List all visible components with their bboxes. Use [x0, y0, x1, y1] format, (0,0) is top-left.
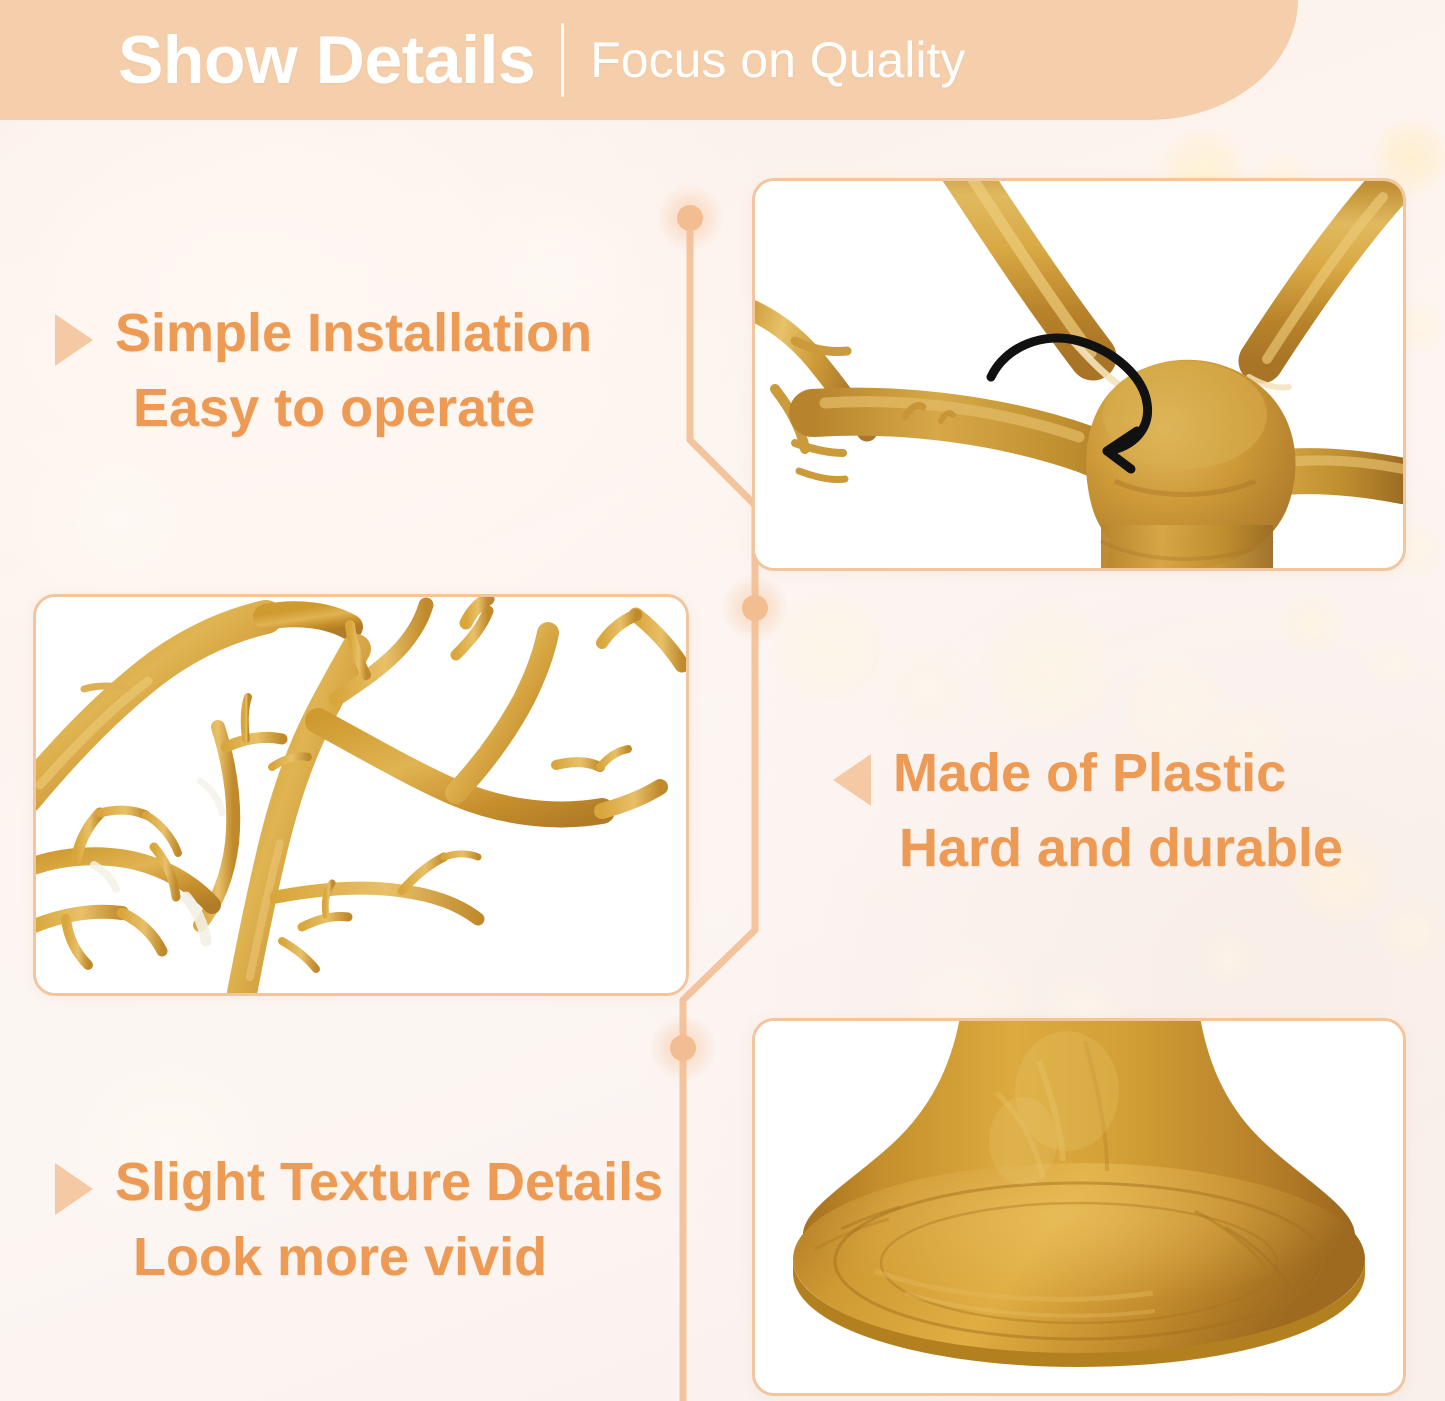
- header-banner: Show Details Focus on Quality: [0, 0, 1298, 120]
- triangle-right-icon: [55, 314, 93, 366]
- joint-closeup-illustration: [755, 181, 1403, 568]
- bokeh-light: [1200, 930, 1258, 988]
- bokeh-light: [770, 590, 890, 710]
- bokeh-light: [980, 600, 1120, 740]
- connector-dot-icon: [670, 1035, 696, 1061]
- feature-slight-texture-details: Slight Texture Details Look more vivid: [55, 1145, 663, 1294]
- base-closeup-illustration: [755, 1021, 1403, 1393]
- feature-line-1: Simple Installation: [115, 296, 592, 371]
- feature-line-1: Made of Plastic: [893, 736, 1343, 811]
- feature-simple-installation: Simple Installation Easy to operate: [55, 296, 592, 445]
- feature-made-of-plastic: Made of Plastic Hard and durable: [833, 736, 1343, 885]
- bokeh-light: [880, 640, 976, 736]
- header-divider: [561, 23, 564, 97]
- feature-line-2: Hard and durable: [893, 811, 1343, 886]
- connector-dot-icon: [742, 595, 768, 621]
- header-banner-content: Show Details Focus on Quality: [118, 0, 965, 120]
- feature-line-2: Look more vivid: [115, 1220, 663, 1295]
- feature-line-2: Easy to operate: [115, 371, 592, 446]
- photo-panel-base-closeup[interactable]: [752, 1018, 1406, 1396]
- photo-panel-joint-closeup[interactable]: [752, 178, 1406, 571]
- bokeh-light: [20, 420, 220, 620]
- feature-text-lines: Made of Plastic Hard and durable: [893, 736, 1343, 885]
- page-title: Show Details: [118, 26, 535, 94]
- bokeh-light: [1278, 590, 1344, 656]
- infographic-canvas: Show Details Focus on Quality: [0, 0, 1445, 1401]
- photo-panel-branches-closeup[interactable]: [33, 594, 689, 996]
- triangle-left-icon: [833, 754, 871, 806]
- bokeh-light: [1368, 640, 1418, 690]
- branches-closeup-illustration: [36, 597, 686, 993]
- feature-text-lines: Slight Texture Details Look more vivid: [115, 1145, 663, 1294]
- triangle-right-icon: [55, 1163, 93, 1215]
- feature-line-1: Slight Texture Details: [115, 1145, 663, 1220]
- page-subtitle: Focus on Quality: [590, 35, 965, 85]
- bokeh-light: [1378, 900, 1444, 966]
- feature-text-lines: Simple Installation Easy to operate: [115, 296, 592, 445]
- connector-dot-icon: [677, 205, 703, 231]
